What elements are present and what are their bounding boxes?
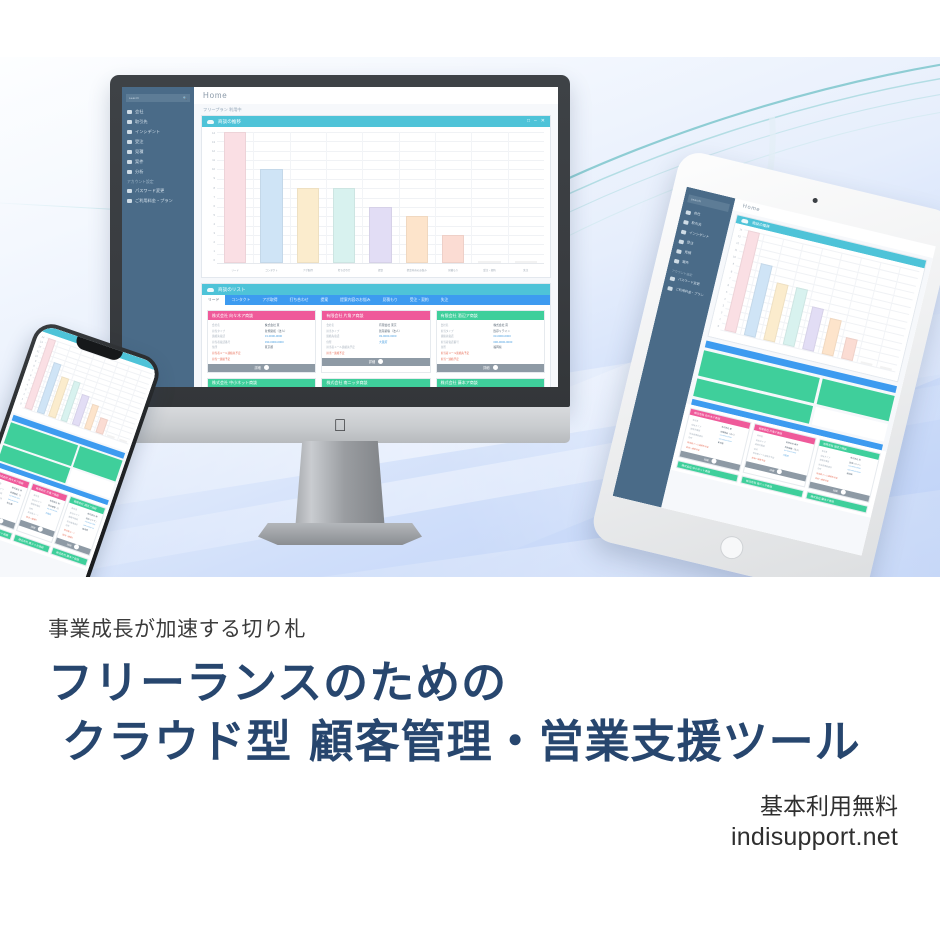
y-tick-label: 2 — [720, 312, 722, 315]
chart-bar[interactable] — [369, 207, 392, 263]
pipeline-tab[interactable]: リード — [202, 295, 225, 305]
bar-chart: 14131211109876543210 リードコンタクトアポ取得打ち合わせ提案… — [202, 127, 550, 277]
x-tick-label: コンタクト — [253, 264, 289, 277]
chart-icon — [127, 170, 132, 174]
field-value: 株式会社 東 — [265, 323, 312, 327]
field-value: 福岡県 — [493, 345, 540, 349]
chart-bars — [217, 132, 544, 263]
chevron-right-icon — [378, 359, 383, 364]
deal-card-title: 株式会社 向々木ア商談 — [208, 311, 315, 320]
document-icon — [127, 150, 132, 154]
alert-icon — [681, 230, 687, 235]
marketing-copy-block: 事業成長が加速する切り札 フリーランスのための クラウド型 顧客管理・営業支援ツ… — [0, 577, 940, 940]
sidebar-item-plan[interactable]: ご利用料金・プラン — [122, 196, 194, 206]
bar-column[interactable] — [508, 132, 544, 263]
y-tick-label: 1 — [719, 319, 721, 322]
deal-card[interactable]: 有限会社 片角ア商談会社名担当タイプ連絡先電話住所担当者メール連絡先予定担当一連… — [321, 310, 430, 373]
chevron-right-icon — [264, 365, 269, 370]
kicker-text: 事業成長が加速する切り札 — [48, 613, 306, 643]
deal-card-title: 株式会社 藤本ア商談 — [437, 379, 544, 387]
field-value: 新規開拓（法人） — [265, 329, 312, 333]
y-tick-label: 11 — [734, 250, 737, 253]
field-label: 担当タイプ — [326, 329, 373, 333]
y-tick-label: 14 — [739, 229, 742, 232]
chart-y-axis: 14131211109876543210 — [205, 132, 217, 277]
field-value-column: 有限会社 東京既存顧客（法人）03-0000-0000大阪府 — [379, 323, 426, 355]
deal-card-title: 有限会社 酒辺ア商談 — [437, 311, 544, 320]
ipad-home-button[interactable] — [718, 534, 746, 562]
list-card-header: 商談のリスト — [202, 284, 550, 295]
y-tick-label: 4 — [214, 224, 215, 227]
lock-icon — [670, 276, 676, 281]
sidebar-item-incident[interactable]: インシデント — [122, 127, 194, 137]
imac-desktop: search 🔍 会社 取引先 — [110, 75, 570, 560]
field-value: 03-0000-0000 — [265, 334, 312, 338]
users-icon — [127, 120, 132, 124]
search-placeholder: search — [691, 197, 702, 203]
field-label-column: 会社名担当タイプ連絡先電話担当者電話番号住所担当者メール連絡先予定担当一連絡予定 — [686, 418, 716, 453]
y-tick-label: 11 — [36, 351, 39, 354]
detail-label: 詳細 — [833, 488, 839, 493]
ipad-camera-icon — [812, 197, 818, 203]
x-tick-label: 打ち合わせ — [326, 264, 362, 277]
field-label: 担当タイプ — [441, 329, 488, 333]
deal-card-detail-button[interactable]: 詳細 — [322, 358, 429, 366]
field-label: 連絡先電話 — [326, 334, 373, 338]
field-label-column: 会社名担当タイプ連絡先電話住所担当者メール連絡先予定担当一連絡予定 — [26, 494, 45, 522]
page-title: Home — [742, 203, 761, 213]
imac-screen: search 🔍 会社 取引先 — [122, 87, 558, 387]
y-tick-label: 7 — [729, 278, 731, 281]
sidebar-group-label: アカウント設定 — [122, 177, 194, 186]
dashboard-tablet: search 会社 取引先 — [613, 187, 936, 556]
pipeline-tab[interactable]: アポ取得 — [256, 295, 283, 305]
field-label-column: 会社名担当タイプ連絡先電話担当者電話番号住所担当者メール連絡先予定担当一連絡予定 — [441, 323, 488, 361]
minimize-icon[interactable]: – — [534, 119, 537, 124]
y-tick-label: 5 — [725, 292, 727, 295]
field-label: 担当一連絡予定 — [212, 357, 259, 361]
y-tick-label: 8 — [730, 271, 732, 274]
sidebar-item-label: 取引先 — [135, 120, 148, 124]
detail-label: 詳細 — [254, 365, 260, 370]
field-value: 090-0000-0000 — [265, 340, 312, 344]
sidebar-item-label: 見積 — [684, 251, 691, 256]
sidebar: search 🔍 会社 取引先 — [122, 87, 194, 387]
field-value-column: 株式会社 東新規開拓（法人）03-0000-0000090-0000-0000東… — [715, 425, 745, 460]
lock-icon — [127, 189, 132, 193]
pipeline-tab[interactable]: 打ち合わせ — [284, 295, 315, 305]
imac-chin:  — [110, 407, 570, 443]
sidebar-item-password[interactable]: パスワード変更 — [122, 186, 194, 196]
sidebar-item-label: 受注 — [135, 140, 143, 144]
x-tick-label: 提案 — [362, 264, 398, 277]
chart-bar[interactable] — [333, 188, 356, 263]
sidebar-item-orders[interactable]: 受注 — [122, 137, 194, 147]
bar-column[interactable] — [399, 132, 435, 263]
y-tick-label: 13 — [39, 341, 43, 344]
chevron-right-icon — [74, 544, 80, 550]
hero-device-showcase: search 🔍 会社 取引先 — [0, 57, 940, 577]
sidebar-item-clients[interactable]: 取引先 — [122, 117, 194, 127]
ipad-body: search 会社 取引先 — [589, 149, 940, 577]
x-tick-label: リード — [217, 264, 253, 277]
y-tick-label: 9 — [732, 264, 734, 267]
sidebar-item-company[interactable]: 会社 — [122, 107, 194, 117]
field-label: 会社名 — [326, 323, 373, 327]
detail-label: 詳細 — [483, 365, 489, 370]
briefcase-icon — [127, 160, 132, 164]
chart-plot-area: リードコンタクトアポ取得打ち合わせ提案提案内容のお悩み見積もり受注・契約失注 — [217, 132, 544, 277]
field-value-column: 有限会社 東京既存顧客（法人）03-0000-0000大阪府 — [780, 441, 809, 472]
chart-bar[interactable] — [260, 169, 283, 263]
y-tick-label: 6 — [29, 375, 31, 378]
chevron-right-icon — [711, 458, 717, 464]
chevron-right-icon — [840, 489, 846, 495]
website-url: indisupport.net — [731, 823, 898, 852]
briefcase-icon — [674, 259, 680, 264]
search-icon[interactable]: 🔍 — [183, 96, 187, 100]
y-tick-label: 9 — [214, 178, 215, 181]
field-label-column: 会社名担当タイプ連絡先電話住所担当者メール連絡先予定担当一連絡予定 — [751, 434, 780, 465]
field-label: 住所 — [212, 345, 259, 349]
field-label-column: 会社名担当タイプ連絡先電話担当者電話番号住所担当者メール連絡先予定担当一連絡予定 — [212, 323, 259, 361]
imac-stand-base — [258, 523, 422, 545]
y-tick-label: 2 — [214, 242, 215, 245]
y-tick-label: 1 — [21, 399, 23, 402]
detail-label: 詳細 — [66, 542, 72, 547]
bar-column[interactable] — [290, 132, 326, 263]
detail-label: 詳細 — [704, 457, 710, 462]
pipeline-tab[interactable]: コンタクト — [225, 295, 256, 305]
headline-line-2: クラウド型 顧客管理・営業支援ツール — [48, 712, 861, 771]
ipad-screen: search 会社 取引先 — [613, 187, 936, 556]
field-value-column: 株式会社 東新規開拓（法人）03-0000-0000090-0000-0000東… — [2, 486, 22, 518]
users-icon — [683, 220, 689, 225]
deal-card-title: 株式会社 中小ネット商談 — [208, 379, 315, 387]
bar-column[interactable] — [326, 132, 362, 263]
dashboard-main: Home フリープラン 利用中 商談の推移 □ – — [194, 87, 558, 387]
deal-card-body: 会社名担当タイプ連絡先電話担当者電話番号住所担当者メール連絡先予定担当一連絡予定… — [208, 320, 315, 364]
chart-bar[interactable] — [406, 216, 429, 263]
cloud-icon — [741, 218, 749, 224]
field-label: 担当者メール連絡先予定 — [212, 351, 259, 355]
chevron-right-icon — [493, 365, 498, 370]
y-tick-label: 8 — [214, 188, 215, 191]
dashboard-desktop: search 🔍 会社 取引先 — [122, 87, 558, 387]
field-value-column: 株式会社 東新規開拓（法人）03-0000-0000090-0000-0000東… — [265, 323, 312, 361]
field-value: 03-0000-0000 — [493, 334, 540, 338]
close-icon[interactable]: ✕ — [541, 119, 545, 124]
page-headline: フリーランスのための クラウド型 顧客管理・営業支援ツール — [48, 653, 861, 772]
sidebar-item-deals[interactable]: 案件 — [122, 157, 194, 167]
y-tick-label: 12 — [38, 346, 42, 349]
chart-bar[interactable] — [224, 132, 247, 263]
y-tick-label: 6 — [214, 206, 215, 209]
chart-bar[interactable] — [442, 235, 465, 263]
field-label: 住所 — [326, 340, 373, 344]
field-label-column: 会社名担当タイプ連絡先電話住所担当者メール連絡先予定担当一連絡予定 — [326, 323, 373, 355]
document-icon — [676, 249, 682, 254]
pipeline-tab[interactable]: 提案内容のお悩み — [334, 295, 376, 305]
x-tick-label: 失注 — [508, 264, 544, 277]
chart-x-axis: リードコンタクトアポ取得打ち合わせ提案提案内容のお悩み見積もり受注・契約失注 — [217, 263, 544, 277]
bar-column[interactable] — [253, 132, 289, 263]
y-tick-label: 13 — [737, 236, 740, 239]
search-input[interactable]: search 🔍 — [126, 94, 190, 102]
y-tick-label: 7 — [31, 370, 33, 373]
y-tick-label: 2 — [23, 394, 25, 397]
y-tick-label: 12 — [212, 151, 215, 154]
field-value-column: 株式会社 南既存リテイン03-0000-0000090-0000-0000福岡県 — [844, 456, 874, 491]
sidebar-item-label: パスワード変更 — [135, 189, 164, 193]
restore-icon[interactable]: □ — [527, 119, 530, 124]
sidebar-item-analytics[interactable]: 分析 — [122, 167, 194, 177]
bar-column[interactable] — [217, 132, 253, 263]
x-tick-label: 受注・契約 — [471, 264, 507, 277]
y-tick-label: 9 — [34, 361, 36, 364]
chevron-right-icon — [37, 527, 43, 533]
y-tick-label: 0 — [717, 326, 719, 329]
y-tick-label: 5 — [214, 215, 215, 218]
pipeline-tab[interactable]: 失注 — [435, 295, 455, 305]
chart-bar[interactable] — [841, 337, 858, 361]
cloud-icon — [207, 288, 214, 292]
cloud-icon — [207, 120, 214, 124]
chart-card-header: 商談の推移 □ – ✕ — [202, 116, 550, 127]
deal-card-title: 有限会社 片角ア商談 — [322, 311, 429, 320]
sidebar-item-label: 取引先 — [691, 222, 702, 228]
chevron-right-icon — [777, 469, 783, 475]
building-icon — [685, 210, 691, 215]
pipeline-tab[interactable]: 受注・契約 — [404, 295, 435, 305]
y-tick-label: 10 — [732, 257, 735, 260]
deal-list-card: 商談のリスト リードコンタクトアポ取得打ち合わせ提案提案内容のお悩み見積もり受注… — [201, 283, 551, 387]
y-tick-label: 14 — [41, 337, 45, 340]
list-card-title: 商談のリスト — [218, 287, 246, 293]
field-label: 会社名 — [212, 323, 259, 327]
ipad-tablet: search 会社 取引先 — [589, 149, 940, 577]
chart-card-title: 商談の推移 — [218, 119, 241, 125]
y-tick-label: 7 — [214, 197, 215, 200]
field-label: 会社名 — [0, 481, 7, 487]
cart-icon — [678, 239, 684, 244]
field-label: 担当者電話番号 — [212, 340, 259, 344]
imac-stand-neck — [295, 441, 385, 531]
field-label: 連絡先電話 — [441, 334, 488, 338]
field-value: 東京都 — [265, 345, 312, 349]
chart-card: 商談の推移 □ – ✕ 14131211109876543210 — [201, 115, 551, 278]
field-value-column: 株式会社 南既存リテイン03-0000-0000090-0000-0000福岡県 — [493, 323, 540, 361]
y-tick-label: 10 — [212, 169, 215, 172]
y-tick-label: 3 — [24, 389, 26, 392]
field-label: 担当一連絡予定 — [441, 357, 488, 361]
sidebar-item-label: 会社 — [135, 110, 143, 114]
deal-card[interactable]: 株式会社 向々木ア商談会社名担当タイプ連絡先電話担当者電話番号住所担当者メール連… — [207, 310, 316, 373]
detail-label: 詳細 — [369, 359, 375, 364]
field-label: 担当者メール連絡先予定 — [441, 351, 488, 355]
x-tick-label: 提案内容のお悩み — [399, 264, 435, 277]
search-placeholder: search — [129, 96, 139, 100]
sidebar-item-label: 分析 — [135, 170, 143, 174]
y-tick-label: 13 — [212, 142, 215, 145]
bar-column[interactable] — [362, 132, 398, 263]
bar-column[interactable] — [471, 132, 507, 263]
y-tick-label: 5 — [27, 380, 29, 383]
y-tick-label: 8 — [32, 366, 34, 369]
chevron-right-icon — [0, 518, 4, 524]
sidebar-item-label: 案件 — [682, 261, 689, 266]
detail-label: 詳細 — [769, 468, 775, 473]
imac-bezel: search 🔍 会社 取引先 — [110, 75, 570, 407]
pipeline-tabbar: リードコンタクトアポ取得打ち合わせ提案提案内容のお悩み見積もり受注・契約失注 — [202, 295, 550, 305]
deal-card-title: 株式会社 南ニッタ商談 — [322, 379, 429, 387]
field-label: 会社名 — [441, 323, 488, 327]
field-value: 既存顧客（法人） — [379, 329, 426, 333]
x-tick-label: 見積もり — [435, 264, 471, 277]
sidebar-item-quotes[interactable]: 見積 — [122, 147, 194, 157]
x-tick-label: アポ取得 — [290, 264, 326, 277]
headline-line-1: フリーランスのための — [48, 656, 507, 709]
pipeline-tab[interactable]: 見積もり — [377, 295, 404, 305]
field-label: 担当タイプ — [212, 329, 259, 333]
alert-icon — [127, 130, 132, 134]
field-value-column: 有限会社 東京既存顧客（法人）03-0000-0000大阪府 — [42, 499, 61, 527]
field-label: 担当者メール連絡先予定 — [326, 345, 373, 349]
free-usage-note: 基本利用無料 — [760, 787, 898, 821]
card-icon — [127, 199, 132, 203]
field-value-column: 株式会社 南既存リテイン03-0000-0000090-0000-0000福岡県 — [78, 512, 98, 544]
y-tick-label: 1 — [214, 251, 215, 254]
sidebar-item-label: 案件 — [135, 160, 143, 164]
plan-status-label: フリープラン 利用中 — [194, 104, 558, 115]
field-label: 連絡先電話 — [212, 334, 259, 338]
y-tick-label: 14 — [212, 133, 215, 136]
y-tick-label: 6 — [727, 285, 729, 288]
deal-card[interactable]: 株式会社 南ニッタ商談 — [321, 378, 430, 387]
y-tick-label: 0 — [214, 260, 215, 263]
field-label: 担当者電話番号 — [441, 340, 488, 344]
sidebar-item-label: ご利用料金・プラン — [675, 288, 704, 298]
deal-card[interactable]: 株式会社 藤本ア商談 — [436, 378, 545, 387]
field-value: 03-0000-0000 — [379, 334, 426, 338]
deal-card[interactable]: 有限会社 酒辺ア商談会社名担当タイプ連絡先電話担当者電話番号住所担当者メール連絡… — [436, 310, 545, 373]
sidebar-item-label: 受注 — [686, 242, 693, 247]
field-label: 担当一連絡予定 — [326, 351, 373, 355]
y-tick-label: 4 — [26, 384, 28, 387]
building-icon — [127, 110, 132, 114]
sidebar-item-label: ご利用料金・プラン — [135, 199, 173, 203]
y-tick-label: 3 — [214, 233, 215, 236]
field-value: 大阪府 — [379, 340, 426, 344]
bar-column[interactable] — [435, 132, 471, 263]
chart-bar[interactable] — [297, 188, 320, 263]
page-title: Home — [203, 91, 228, 100]
y-tick-label: 3 — [722, 305, 724, 308]
deal-card-detail-button[interactable]: 詳細 — [208, 364, 315, 372]
poster-canvas: search 🔍 会社 取引先 — [0, 0, 940, 940]
field-value: 既存リテイン — [493, 329, 540, 333]
y-tick-label: 4 — [724, 298, 726, 301]
sidebar-item-label: 会社 — [693, 212, 700, 217]
pipeline-tab[interactable]: 提案 — [315, 295, 335, 305]
topbar: Home — [194, 87, 558, 104]
field-label-column: 会社名担当タイプ連絡先電話担当者電話番号住所担当者メール連絡先予定担当一連絡予定 — [815, 449, 845, 484]
field-value: 株式会社 南 — [493, 323, 540, 327]
y-tick-label: 10 — [34, 356, 38, 359]
deal-card-detail-button[interactable]: 詳細 — [437, 364, 544, 372]
deal-card-grid-row2: 株式会社 中小ネット商談株式会社 南ニッタ商談株式会社 藤本ア商談 — [202, 378, 550, 387]
field-label: 住所 — [441, 345, 488, 349]
apple-logo-icon:  — [334, 417, 347, 434]
sidebar-item-label: インシデント — [135, 130, 160, 134]
deal-card-body: 会社名担当タイプ連絡先電話住所担当者メール連絡先予定担当一連絡予定有限会社 東京… — [322, 320, 429, 358]
field-value: 有限会社 東京 — [379, 323, 426, 327]
card-icon — [667, 286, 673, 291]
detail-label: 詳細 — [30, 524, 36, 529]
y-tick-label: 0 — [19, 403, 21, 406]
y-tick-label: 11 — [212, 160, 215, 163]
cart-icon — [127, 140, 132, 144]
field-value: 090-0000-0000 — [493, 340, 540, 344]
deal-card[interactable]: 株式会社 中小ネット商談 — [207, 378, 316, 387]
deal-card-grid: 株式会社 向々木ア商談会社名担当タイプ連絡先電話担当者電話番号住所担当者メール連… — [202, 305, 550, 378]
y-tick-label: 12 — [736, 243, 739, 246]
sidebar-item-label: 見積 — [135, 150, 143, 154]
deal-card-body: 会社名担当タイプ連絡先電話担当者電話番号住所担当者メール連絡先予定担当一連絡予定… — [437, 320, 544, 364]
